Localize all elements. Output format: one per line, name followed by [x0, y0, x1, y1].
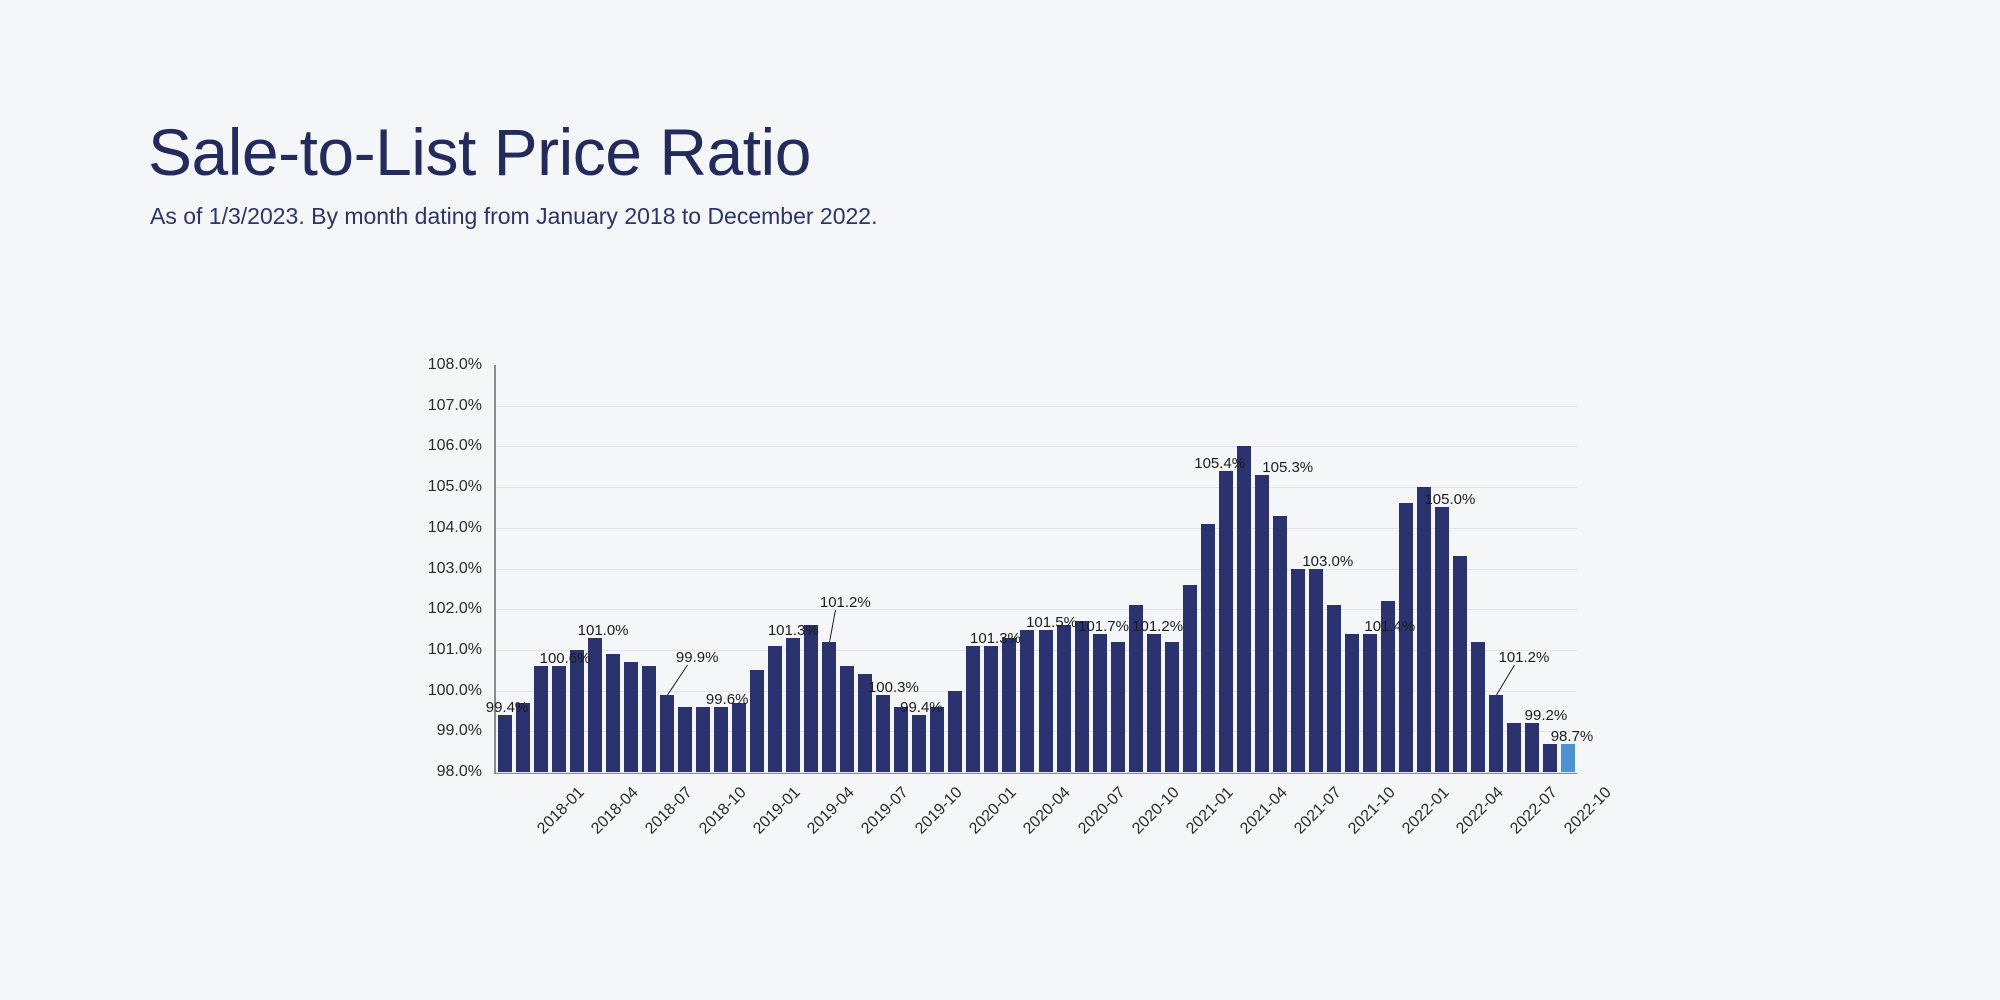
bar[interactable] [1471, 642, 1485, 772]
y-axis-tick-label: 107.0% [428, 397, 482, 415]
bar[interactable] [750, 670, 764, 772]
bar[interactable] [930, 707, 944, 772]
x-axis-tick-label: 2021-04 [1237, 784, 1291, 838]
bar[interactable] [1327, 605, 1341, 772]
bar[interactable] [966, 646, 980, 772]
x-axis-tick-label: 2022-04 [1453, 784, 1507, 838]
bar-value-label: 101.7% [1078, 618, 1129, 635]
bar[interactable] [1273, 516, 1287, 772]
bar-value-label: 101.2% [1132, 618, 1183, 635]
bar[interactable] [1057, 625, 1071, 772]
bar[interactable] [840, 666, 854, 772]
plot-area: 99.4%100.6%101.0%99.9%99.6%101.3%101.2%1… [494, 365, 1577, 774]
bar[interactable] [822, 642, 836, 772]
bar-chart: 99.4%100.6%101.0%99.9%99.6%101.3%101.2%1… [0, 0, 2000, 1000]
bar-value-label: 100.6% [540, 650, 591, 667]
bar[interactable] [1363, 634, 1377, 772]
x-axis-tick-label: 2021-10 [1345, 784, 1399, 838]
y-axis-tick-label: 98.0% [437, 763, 482, 781]
bar[interactable] [1020, 630, 1034, 772]
y-axis-tick-label: 104.0% [428, 519, 482, 537]
bar[interactable] [876, 695, 890, 772]
bar[interactable] [570, 650, 584, 772]
bar[interactable] [714, 707, 728, 772]
bar[interactable] [1435, 507, 1449, 772]
bar[interactable] [534, 666, 548, 772]
bar[interactable] [1507, 723, 1521, 772]
x-axis-tick-label: 2022-07 [1507, 784, 1561, 838]
bar-value-label: 101.3% [768, 622, 819, 639]
bar[interactable] [678, 707, 692, 772]
bar[interactable] [786, 638, 800, 772]
x-axis-tick-label: 2020-01 [967, 784, 1021, 838]
bar[interactable] [660, 695, 674, 772]
bar-value-label: 101.5% [1026, 614, 1077, 631]
x-axis-tick-label: 2021-07 [1291, 784, 1345, 838]
bar-value-label: 101.2% [1498, 649, 1549, 666]
bar[interactable] [1417, 487, 1431, 772]
x-axis-tick-label: 2018-10 [696, 784, 750, 838]
bar[interactable] [552, 666, 566, 772]
x-axis-tick-label: 2020-07 [1075, 784, 1129, 838]
y-axis-tick-label: 103.0% [428, 560, 482, 578]
y-axis-tick-label: 105.0% [428, 478, 482, 496]
bar[interactable] [642, 666, 656, 772]
bar-value-label: 101.2% [820, 594, 871, 611]
bar[interactable] [732, 703, 746, 772]
x-axis-tick-label: 2018-07 [642, 784, 696, 838]
x-axis-tick-label: 2019-01 [750, 784, 804, 838]
bar[interactable] [1543, 744, 1557, 772]
x-axis-tick-label: 2019-04 [804, 784, 858, 838]
bar[interactable] [1345, 634, 1359, 772]
bar[interactable] [1201, 524, 1215, 772]
bar[interactable] [1309, 569, 1323, 773]
bar-value-label: 101.0% [578, 622, 629, 639]
bar[interactable] [984, 646, 998, 772]
bar-value-label: 105.3% [1262, 459, 1313, 476]
bar-series [496, 365, 1577, 772]
y-axis-tick-label: 108.0% [428, 356, 482, 374]
bar[interactable] [696, 707, 710, 772]
bar[interactable] [768, 646, 782, 772]
bar[interactable] [1111, 642, 1125, 772]
bar-value-label: 101.3% [970, 630, 1021, 647]
bar-value-label: 99.9% [676, 649, 719, 666]
chart-page: Sale-to-List Price Ratio As of 1/3/2023.… [0, 0, 2000, 1000]
bar-value-label: 101.4% [1364, 618, 1415, 635]
bar[interactable] [1165, 642, 1179, 772]
y-axis-tick-label: 99.0% [437, 722, 482, 740]
bar[interactable] [1255, 475, 1269, 772]
bar-value-label: 105.4% [1194, 455, 1245, 472]
y-axis-tick-label: 102.0% [428, 600, 482, 618]
bar[interactable] [1561, 744, 1575, 772]
bar[interactable] [1525, 723, 1539, 772]
x-axis-tick-label: 2022-01 [1399, 784, 1453, 838]
bar[interactable] [1489, 695, 1503, 772]
bar[interactable] [1399, 503, 1413, 772]
x-axis-tick-label: 2018-04 [588, 784, 642, 838]
bar-value-label: 99.4% [900, 699, 943, 716]
bar[interactable] [624, 662, 638, 772]
gridline [496, 772, 1577, 773]
x-axis-tick-label: 2020-04 [1021, 784, 1075, 838]
x-axis-tick-label: 2020-10 [1129, 784, 1183, 838]
y-axis-tick-label: 101.0% [428, 641, 482, 659]
bar[interactable] [912, 715, 926, 772]
bar[interactable] [1453, 556, 1467, 772]
bar[interactable] [804, 625, 818, 772]
bar[interactable] [1147, 634, 1161, 772]
bar-value-label: 105.0% [1424, 491, 1475, 508]
bar[interactable] [1291, 569, 1305, 773]
bar-value-label: 99.4% [486, 699, 529, 716]
bar[interactable] [1075, 621, 1089, 772]
x-axis-tick-label: 2021-01 [1183, 784, 1237, 838]
x-axis-tick-label: 2019-07 [858, 784, 912, 838]
bar-value-label: 99.2% [1525, 707, 1568, 724]
bar[interactable] [1039, 630, 1053, 772]
bar[interactable] [894, 707, 908, 772]
bar-value-label: 99.6% [706, 691, 749, 708]
bar[interactable] [1002, 638, 1016, 772]
bar-value-label: 98.7% [1551, 728, 1594, 745]
x-axis-tick-label: 2018-01 [534, 784, 588, 838]
bar[interactable] [1183, 585, 1197, 772]
bar[interactable] [948, 691, 962, 772]
bar[interactable] [498, 715, 512, 772]
bar-value-label: 103.0% [1302, 553, 1353, 570]
bar[interactable] [606, 654, 620, 772]
bar[interactable] [1093, 634, 1107, 772]
y-axis-tick-label: 106.0% [428, 437, 482, 455]
bar[interactable] [1219, 471, 1233, 772]
y-axis-tick-label: 100.0% [428, 682, 482, 700]
bar[interactable] [1237, 446, 1251, 772]
bar-value-label: 100.3% [868, 679, 919, 696]
x-axis-tick-label: 2019-10 [913, 784, 967, 838]
x-axis-tick-label: 2022-10 [1561, 784, 1615, 838]
